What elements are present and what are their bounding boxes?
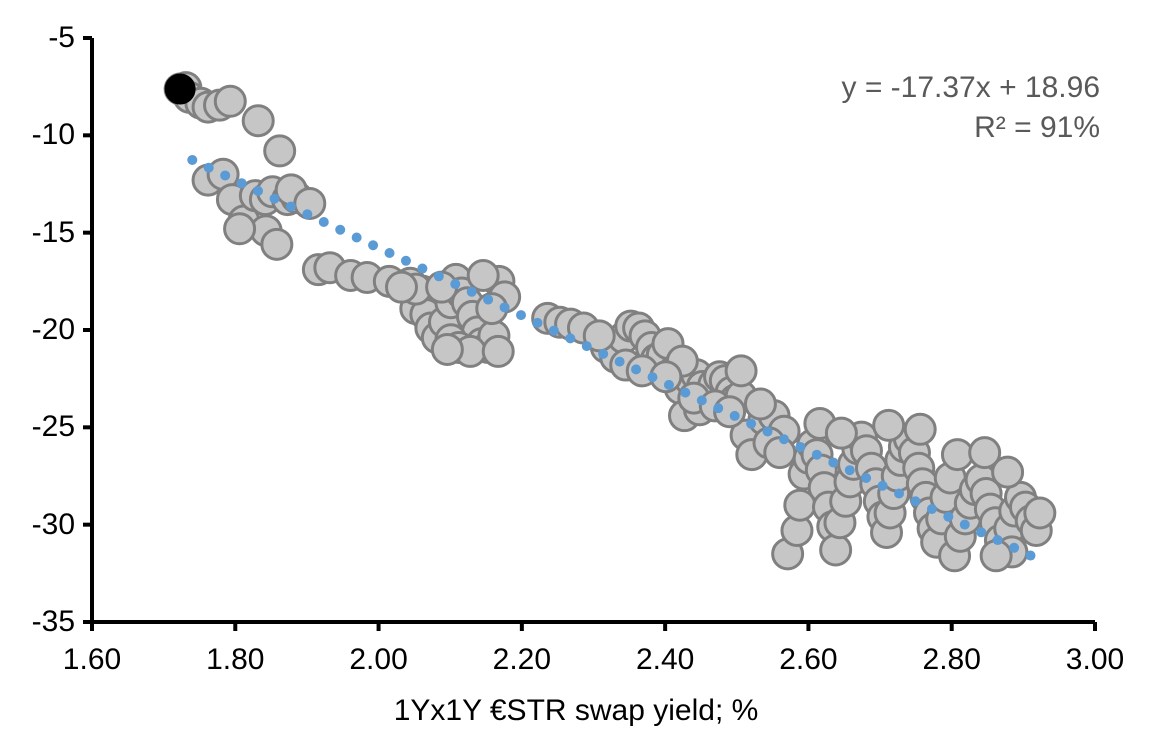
y-tick-label: -10 — [0, 120, 75, 150]
regression-equation: y = -17.37x + 18.96 — [841, 68, 1100, 108]
data-points — [165, 73, 1055, 571]
x-tick-label: 2.20 — [493, 645, 551, 675]
scatter-chart: -5-10-15-20-25-30-35 1.601.802.002.202.4… — [0, 0, 1152, 745]
x-tick-label: 1.60 — [63, 645, 121, 675]
r-squared-label: R² = 91% — [841, 108, 1100, 148]
highlighted-point — [166, 75, 194, 103]
x-tick-label: 3.00 — [1066, 645, 1124, 675]
x-tick-label: 2.00 — [349, 645, 407, 675]
x-tick-label: 2.60 — [779, 645, 837, 675]
y-tick-label: -35 — [0, 607, 75, 637]
y-tick-label: -15 — [0, 218, 75, 248]
x-tick-label: 1.80 — [206, 645, 264, 675]
x-axis-title: 1Yx1Y €STR swap yield; % — [0, 694, 1152, 728]
y-tick-label: -20 — [0, 315, 75, 345]
x-tick-label: 2.80 — [923, 645, 981, 675]
y-tick-label: -30 — [0, 510, 75, 540]
y-tick-label: -25 — [0, 412, 75, 442]
regression-annotation: y = -17.37x + 18.96 R² = 91% — [841, 68, 1100, 147]
x-tick-label: 2.40 — [636, 645, 694, 675]
y-tick-label: -5 — [0, 23, 75, 53]
